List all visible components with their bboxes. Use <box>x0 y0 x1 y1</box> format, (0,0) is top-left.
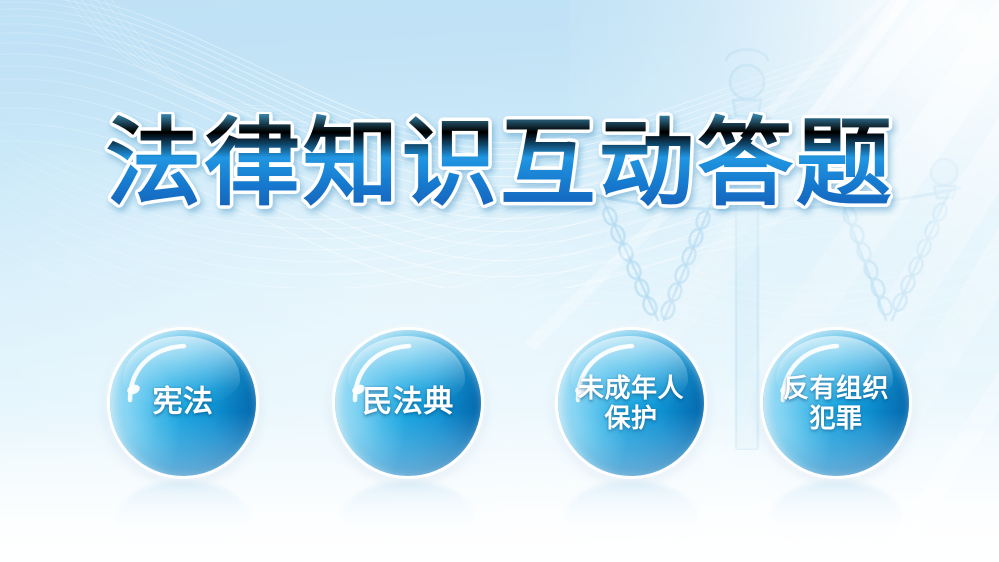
category-sphere-constitution[interactable]: 宪法 <box>110 330 256 476</box>
category-label-line: 反有组织 <box>771 373 901 403</box>
page-title-text: 法律知识互动答题 <box>105 112 894 219</box>
category-sphere-minor-protection[interactable]: 未成年人 保护 <box>558 330 704 476</box>
sphere-reflection <box>117 481 249 555</box>
wave-ribbon-decoration <box>0 0 999 288</box>
category-sphere-row: 宪法 民法典 <box>0 330 999 560</box>
sphere-highlight-dot <box>126 383 141 396</box>
category-label-line: 未成年人 <box>566 373 696 403</box>
light-burst-glow <box>569 0 999 370</box>
sphere-rim <box>558 330 704 476</box>
category-slot-constitution: 宪法 <box>110 330 256 560</box>
sphere-highlight-dot <box>574 383 589 396</box>
sphere-rim <box>763 330 909 476</box>
category-slot-minor-protection: 未成年人 保护 <box>558 330 704 560</box>
category-label-constitution: 宪法 <box>110 386 256 421</box>
page-title-svg: 法律知识互动答题 <box>100 112 900 222</box>
category-slot-civil-code: 民法典 <box>335 330 481 560</box>
sphere-rim <box>335 330 481 476</box>
sphere-reflection <box>342 481 474 555</box>
sphere-highlight-arc-icon <box>572 342 652 406</box>
category-label-minor-protection: 未成年人 保护 <box>558 373 704 433</box>
sphere-highlight-dot <box>779 383 794 396</box>
sphere-rim <box>110 330 256 476</box>
poster-stage: 法律知识互动答题 宪法 <box>0 0 999 562</box>
sphere-reflection <box>770 481 902 555</box>
category-label-line: 保护 <box>566 403 696 433</box>
category-label-line: 宪法 <box>118 386 248 421</box>
category-label-line: 犯罪 <box>771 403 901 433</box>
category-label-civil-code: 民法典 <box>335 386 481 421</box>
category-sphere-anti-organized-crime[interactable]: 反有组织 犯罪 <box>763 330 909 476</box>
sphere-highlight-arc-icon <box>349 342 429 406</box>
sphere-highlight-arc-icon <box>124 342 204 406</box>
category-label-anti-organized-crime: 反有组织 犯罪 <box>763 373 909 433</box>
sphere-reflection <box>565 481 697 555</box>
category-label-line: 民法典 <box>343 386 473 421</box>
sphere-highlight-dot <box>351 383 366 396</box>
category-slot-anti-organized-crime: 反有组织 犯罪 <box>763 330 909 560</box>
page-title: 法律知识互动答题 <box>0 112 999 222</box>
category-sphere-civil-code[interactable]: 民法典 <box>335 330 481 476</box>
sphere-highlight-arc-icon <box>777 342 857 406</box>
